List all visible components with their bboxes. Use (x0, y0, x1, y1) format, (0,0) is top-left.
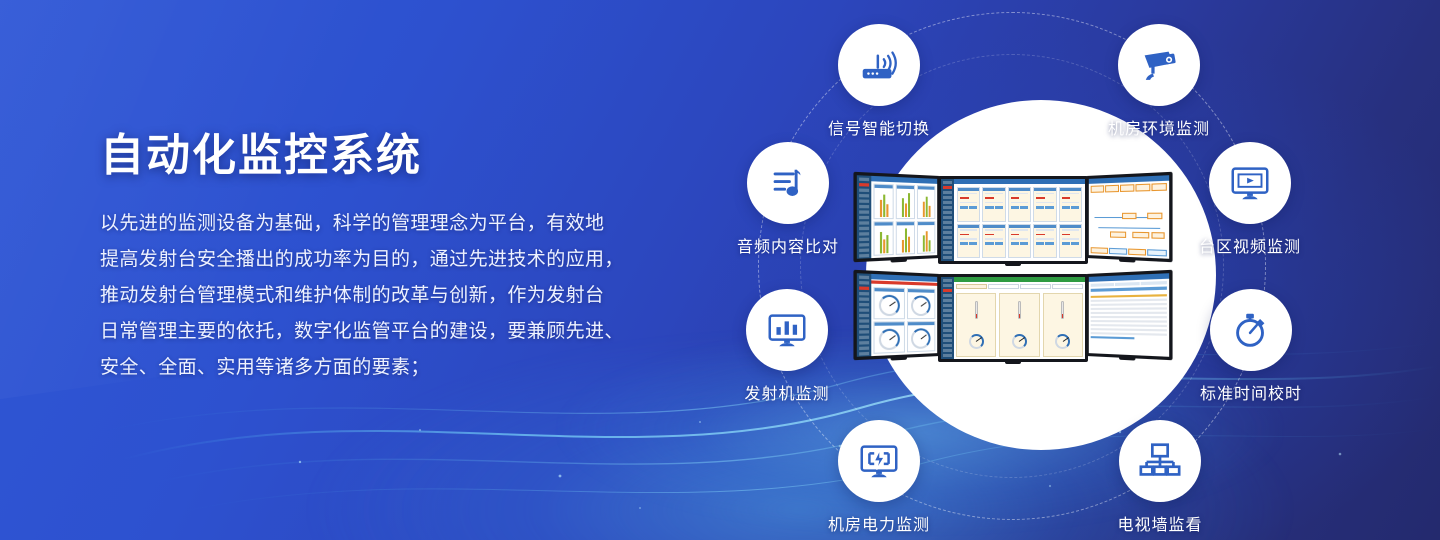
screen-content-data-grid (954, 179, 1085, 261)
monitor-screen-bottom-right[interactable] (1086, 270, 1173, 361)
feature-bubble[interactable] (838, 24, 920, 106)
monitor-wall-row-bottom (856, 274, 1190, 362)
screen-content-bar-charts (871, 176, 937, 258)
page-title: 自动化监控系统 (100, 132, 700, 180)
feature-bubble[interactable] (747, 142, 829, 224)
monitor-stand (1005, 262, 1021, 266)
banner-description: 以先进的监测设备为基础，科学的管理理念为平台，有效地 提高发射台安全播出的成功率… (100, 206, 700, 386)
feature-label: 台区视频监测 (1170, 233, 1330, 257)
feature-node-transmitter[interactable]: 发射机监测 (707, 289, 867, 404)
description-line: 以先进的监测设备为基础，科学的管理理念为平台，有效地 (100, 206, 700, 242)
feature-node-room-power[interactable]: 机房电力监测 (799, 420, 959, 535)
feature-label: 机房电力监测 (799, 511, 959, 535)
screen-sidebar (941, 179, 954, 261)
feature-label: 音频内容比对 (708, 233, 868, 257)
feature-label: 信号智能切换 (799, 115, 959, 139)
monitor-stand (891, 356, 907, 361)
feature-node-signal-switch[interactable]: 信号智能切换 (799, 24, 959, 139)
music-note-list-icon (765, 160, 811, 206)
monitor-stand (891, 258, 907, 263)
description-line: 提高发射台安全播出的成功率为目的，通过先进技术的应用， (100, 242, 700, 278)
screen-content-flow-diagram (1089, 175, 1169, 259)
screen-content-thermo-gauges (954, 277, 1085, 359)
screen-sidebar (941, 277, 954, 359)
monitor-wall (856, 176, 1190, 362)
monitor-stand (1119, 356, 1135, 361)
feature-bubble[interactable] (1209, 142, 1291, 224)
feature-bubble[interactable] (1210, 289, 1292, 371)
monitor-wall-row-top (856, 176, 1190, 264)
feature-bubble[interactable] (746, 289, 828, 371)
description-line: 推动发射台管理模式和维护体制的改革与创新，作为发射台 (100, 278, 700, 314)
feature-node-audio-compare[interactable]: 音频内容比对 (708, 142, 868, 257)
monitor-screen-top-center[interactable] (938, 176, 1088, 264)
feature-node-tv-wall[interactable]: 电视墙监看 (1080, 420, 1240, 535)
feature-node-time-sync[interactable]: 标准时间校时 (1171, 289, 1331, 404)
feature-node-area-video[interactable]: 台区视频监测 (1170, 142, 1330, 257)
screen-content-arc-gauges (871, 274, 937, 356)
monitor-screen-bottom-center[interactable] (938, 274, 1088, 362)
feature-label: 电视墙监看 (1080, 511, 1240, 535)
monitor-stand (1005, 360, 1021, 364)
sitemap-hierarchy-icon (1137, 438, 1183, 484)
banner-copy: 自动化监控系统 以先进的监测设备为基础，科学的管理理念为平台，有效地 提高发射台… (100, 132, 700, 386)
feature-label: 发射机监测 (707, 380, 867, 404)
feature-label: 机房环境监测 (1079, 115, 1239, 139)
stopwatch-icon (1228, 307, 1274, 353)
monitor-battery-bolt-icon (856, 438, 902, 484)
monitor-video-play-icon (1227, 160, 1273, 206)
feature-label: 标准时间校时 (1171, 380, 1331, 404)
monitor-screen-top-right[interactable] (1086, 172, 1173, 263)
cctv-camera-icon (1136, 42, 1182, 88)
feature-bubble[interactable] (1119, 420, 1201, 502)
hero-banner: 自动化监控系统 以先进的监测设备为基础，科学的管理理念为平台，有效地 提高发射台… (0, 0, 1440, 540)
feature-bubble[interactable] (838, 420, 920, 502)
wifi-router-icon (856, 42, 902, 88)
monitor-bar-chart-icon (764, 307, 810, 353)
screen-content-report-table (1089, 273, 1169, 357)
description-line: 日常管理主要的依托，数字化监管平台的建设，要兼顾先进、 (100, 314, 700, 350)
feature-bubble[interactable] (1118, 24, 1200, 106)
description-line: 安全、全面、实用等诸多方面的要素； (100, 350, 700, 386)
monitor-stand (1119, 258, 1135, 263)
feature-node-room-environment[interactable]: 机房环境监测 (1079, 24, 1239, 139)
